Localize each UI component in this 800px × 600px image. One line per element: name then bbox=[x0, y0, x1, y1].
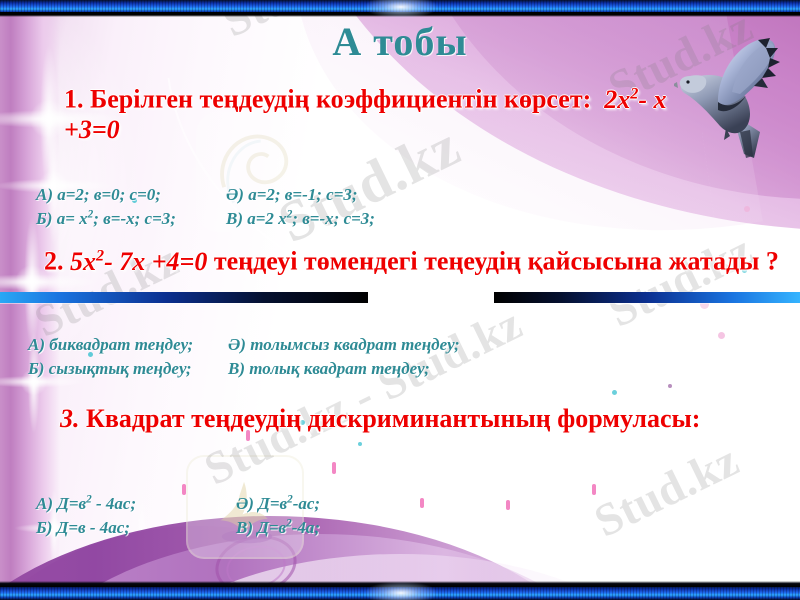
question-3-text-line1: Квадрат теңдеудің дискриминантының bbox=[86, 404, 551, 433]
slide-canvas: Stud.kz Stud.kz Stud.kz Stud.kz Stud.kz … bbox=[0, 0, 800, 600]
option-v[interactable]: В) толық квадрат теңдеу; bbox=[228, 357, 628, 381]
option-a[interactable]: А) биквадрат теңдеу; bbox=[28, 333, 228, 357]
option-key: Ә) bbox=[236, 494, 254, 513]
option-text: Д=в bbox=[258, 494, 287, 513]
question-1: 1. Берілген теңдеудің коэффициентін көрс… bbox=[64, 84, 684, 146]
option-text: а=2 x bbox=[247, 209, 286, 228]
question-1-options: А) а=2; в=0; с=0; Ә) а=2; в=-1; с=3; Б) … bbox=[36, 183, 596, 231]
question-2-text: теңдеуі төмендегі теңеудің bbox=[214, 247, 521, 276]
page-title: А тобы bbox=[0, 18, 800, 65]
option-key: Ә) bbox=[228, 335, 246, 354]
option-text: сызықтық теңдеу; bbox=[49, 359, 192, 378]
option-text-rest: -ас; bbox=[293, 494, 320, 513]
equation-rest: - 7x +4=0 bbox=[104, 247, 207, 276]
slide-content: А тобы 1. Берілген теңдеудің коэффициент… bbox=[0, 0, 800, 600]
question-2-equation: 5x2- 7x +4=0 bbox=[70, 247, 207, 276]
question-1-text: Берілген теңдеудің коэффициентін көрсет: bbox=[90, 85, 591, 114]
option-text-rest: - 4ас; bbox=[86, 518, 130, 537]
option-e[interactable]: Ә) а=2; в=-1; с=3; bbox=[226, 183, 596, 207]
option-v[interactable]: В) Д=в2-4а; bbox=[236, 516, 596, 540]
option-key: В) bbox=[228, 359, 245, 378]
question-3-number: 3. bbox=[60, 404, 80, 433]
option-row: А) Д=в2 - 4ас; Ә) Д=в2-ас; bbox=[36, 492, 596, 516]
equation-exponent: 2 bbox=[96, 247, 104, 264]
option-text-rest: ; в=-х; с=3; bbox=[93, 209, 176, 228]
question-3: 3. Квадрат теңдеудің дискриминантының фо… bbox=[60, 404, 780, 435]
overlay-strip-right bbox=[494, 292, 800, 303]
option-key: Ә) bbox=[226, 185, 244, 204]
option-row: А) биквадрат теңдеу; Ә) толымсыз квадрат… bbox=[28, 333, 628, 357]
option-key: Б) bbox=[36, 518, 52, 537]
option-key: А) bbox=[36, 494, 53, 513]
option-a[interactable]: А) Д=в2 - 4ас; bbox=[36, 492, 236, 516]
option-e[interactable]: Ә) толымсыз квадрат теңдеу; bbox=[228, 333, 628, 357]
option-text: толық квадрат теңдеу; bbox=[249, 359, 429, 378]
option-v[interactable]: В) а=2 x2; в=-х; с=3; bbox=[226, 207, 596, 231]
question-2-text-line2: қайсысына жатады ? bbox=[528, 247, 779, 276]
option-key: А) bbox=[36, 185, 53, 204]
option-key: Б) bbox=[28, 359, 44, 378]
option-text-rest: - 4ас; bbox=[92, 494, 136, 513]
option-text-rest: ; в=-х; с=3; bbox=[292, 209, 375, 228]
option-text: а= x bbox=[57, 209, 88, 228]
equation-base: 5x bbox=[70, 247, 96, 276]
option-text: толымсыз квадрат теңдеу; bbox=[250, 335, 460, 354]
question-2-number: 2. bbox=[44, 247, 64, 276]
question-1-number: 1. bbox=[64, 85, 84, 114]
option-text: а=2; в=0; с=0; bbox=[57, 185, 161, 204]
option-key: Б) bbox=[36, 209, 52, 228]
overlay-strip-left bbox=[0, 292, 368, 303]
option-text-rest: -4а; bbox=[292, 518, 320, 537]
question-3-options: А) Д=в2 - 4ас; Ә) Д=в2-ас; Б) Д=в - 4ас;… bbox=[36, 492, 596, 540]
option-row: Б) Д=в - 4ас; В) Д=в2-4а; bbox=[36, 516, 596, 540]
option-row: Б) сызықтық теңдеу; В) толық квадрат тең… bbox=[28, 357, 628, 381]
question-2-options: А) биквадрат теңдеу; Ә) толымсыз квадрат… bbox=[28, 333, 628, 381]
equation-base: 2x bbox=[604, 85, 630, 114]
option-key: А) bbox=[28, 335, 45, 354]
option-row: А) а=2; в=0; с=0; Ә) а=2; в=-1; с=3; bbox=[36, 183, 596, 207]
option-b[interactable]: Б) Д=в - 4ас; bbox=[36, 516, 236, 540]
option-a[interactable]: А) а=2; в=0; с=0; bbox=[36, 183, 226, 207]
option-row: Б) а= x2; в=-х; с=3; В) а=2 x2; в=-х; с=… bbox=[36, 207, 596, 231]
option-key: В) bbox=[236, 518, 253, 537]
option-text: Д=в bbox=[57, 494, 86, 513]
option-text: а=2; в=-1; с=3; bbox=[248, 185, 357, 204]
option-text: Д=в bbox=[57, 518, 86, 537]
option-e[interactable]: Ә) Д=в2-ас; bbox=[236, 492, 596, 516]
option-key: В) bbox=[226, 209, 243, 228]
option-text: Д=в bbox=[257, 518, 286, 537]
option-b[interactable]: Б) сызықтық теңдеу; bbox=[28, 357, 228, 381]
option-text: биквадрат теңдеу; bbox=[49, 335, 193, 354]
question-3-text-line2: формуласы: bbox=[557, 404, 700, 433]
question-2: 2. 5x2- 7x +4=0 теңдеуі төмендегі теңеуд… bbox=[44, 246, 784, 277]
option-b[interactable]: Б) а= x2; в=-х; с=3; bbox=[36, 207, 226, 231]
